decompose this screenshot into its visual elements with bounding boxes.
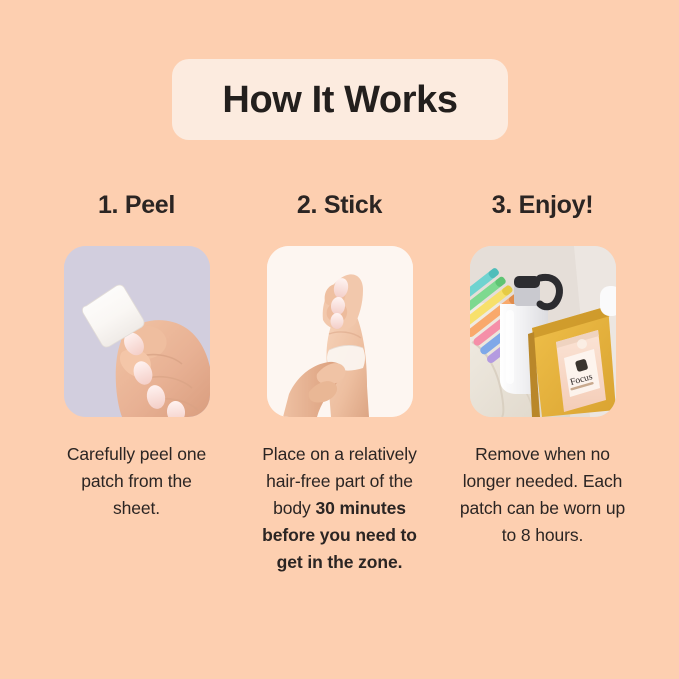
step-caption-2: Place on a relatively hair-free part of … bbox=[250, 441, 430, 576]
step-caption-1: Carefully peel one patch from the sheet. bbox=[57, 441, 217, 522]
step-heading-2: 2. Stick bbox=[297, 188, 382, 222]
step-image-3: Focus bbox=[470, 246, 616, 417]
earbud-case-shape bbox=[600, 286, 616, 316]
step-column-3: 3. Enjoy! bbox=[470, 188, 616, 576]
page-title: How It Works bbox=[222, 81, 457, 119]
step-heading-3: 3. Enjoy! bbox=[492, 188, 594, 222]
caption-plain-3: Remove when no longer needed. Each patch… bbox=[460, 444, 625, 545]
how-it-works-infographic: How It Works 1. Peel bbox=[0, 0, 679, 679]
step-caption-3: Remove when no longer needed. Each patch… bbox=[457, 441, 629, 549]
step-column-1: 1. Peel bbox=[64, 188, 210, 576]
step-image-1 bbox=[64, 246, 210, 417]
step-heading-1: 1. Peel bbox=[98, 188, 175, 222]
focus-pack-shape: Focus bbox=[556, 330, 606, 412]
caption-plain-1: Carefully peel one patch from the sheet. bbox=[67, 444, 206, 518]
title-banner: How It Works bbox=[172, 59, 508, 140]
step-column-2: 2. Stick bbox=[267, 188, 413, 576]
steps-container: 1. Peel bbox=[0, 188, 679, 576]
step-image-2 bbox=[267, 246, 413, 417]
